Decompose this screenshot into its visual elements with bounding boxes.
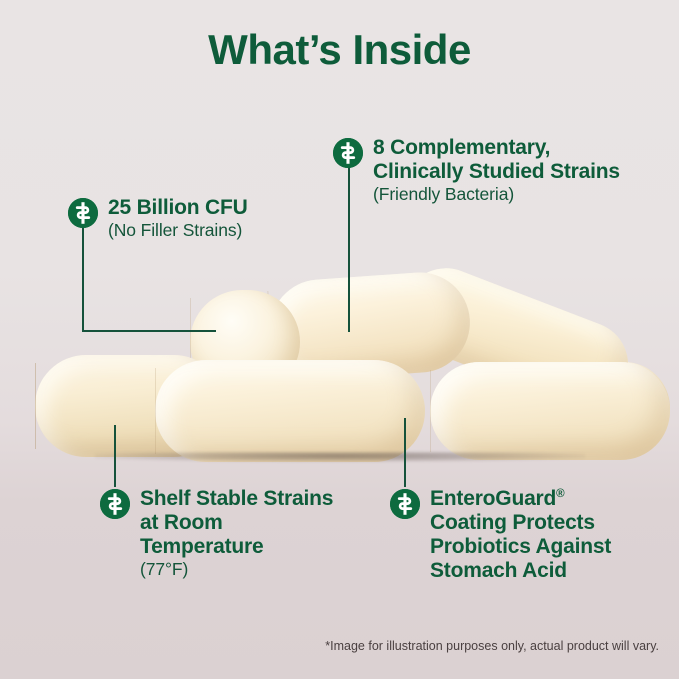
page-title: What’s Inside — [0, 26, 679, 74]
infographic-canvas: What’s Inside 25 B — [0, 0, 679, 679]
callout-main-text: EnteroGuard® — [430, 487, 678, 511]
gut-icon — [100, 489, 130, 519]
registered-trademark-icon: ® — [556, 488, 564, 500]
callout-text: 25 Billion CFU (No Filler Strains) — [108, 196, 248, 241]
callout-sub-text: (77°F) — [140, 560, 340, 580]
callout-8-strains: 8 Complementary, Clinically Studied Stra… — [333, 136, 628, 205]
callout-25-billion-cfu: 25 Billion CFU (No Filler Strains) — [68, 196, 248, 241]
capsule-shadow — [95, 452, 585, 462]
leader-line-cfu-horizontal — [82, 330, 216, 332]
callout-text: EnteroGuard® Coating Protects Probiotics… — [430, 487, 678, 583]
product-image — [0, 270, 679, 485]
callout-main-text: Shelf Stable Strains at Room Temperature — [140, 487, 340, 559]
gut-icon — [68, 198, 98, 228]
leader-line-cfu-vertical — [82, 227, 84, 332]
callout-main-text: 8 Complementary, Clinically Studied Stra… — [373, 136, 628, 184]
gut-icon — [333, 138, 363, 168]
callout-text: 8 Complementary, Clinically Studied Stra… — [373, 136, 628, 205]
gut-icon — [390, 489, 420, 519]
brand-name: EnteroGuard — [430, 487, 556, 510]
capsule-front-right — [430, 362, 670, 460]
callout-main-text: 25 Billion CFU — [108, 196, 248, 219]
callout-sub-text: (Friendly Bacteria) — [373, 185, 628, 205]
callout-main-text-rest: Coating Protects Probiotics Against Stom… — [430, 511, 678, 583]
callout-enteroguard: EnteroGuard® Coating Protects Probiotics… — [390, 487, 678, 583]
callout-text: Shelf Stable Strains at Room Temperature… — [140, 487, 340, 580]
callout-sub-text: (No Filler Strains) — [108, 221, 248, 241]
disclaimer-text: *Image for illustration purposes only, a… — [325, 639, 659, 653]
leader-line-entero — [404, 418, 406, 487]
capsule-front-center — [155, 360, 425, 462]
leader-line-shelf — [114, 425, 116, 487]
callout-shelf-stable: Shelf Stable Strains at Room Temperature… — [100, 487, 340, 580]
